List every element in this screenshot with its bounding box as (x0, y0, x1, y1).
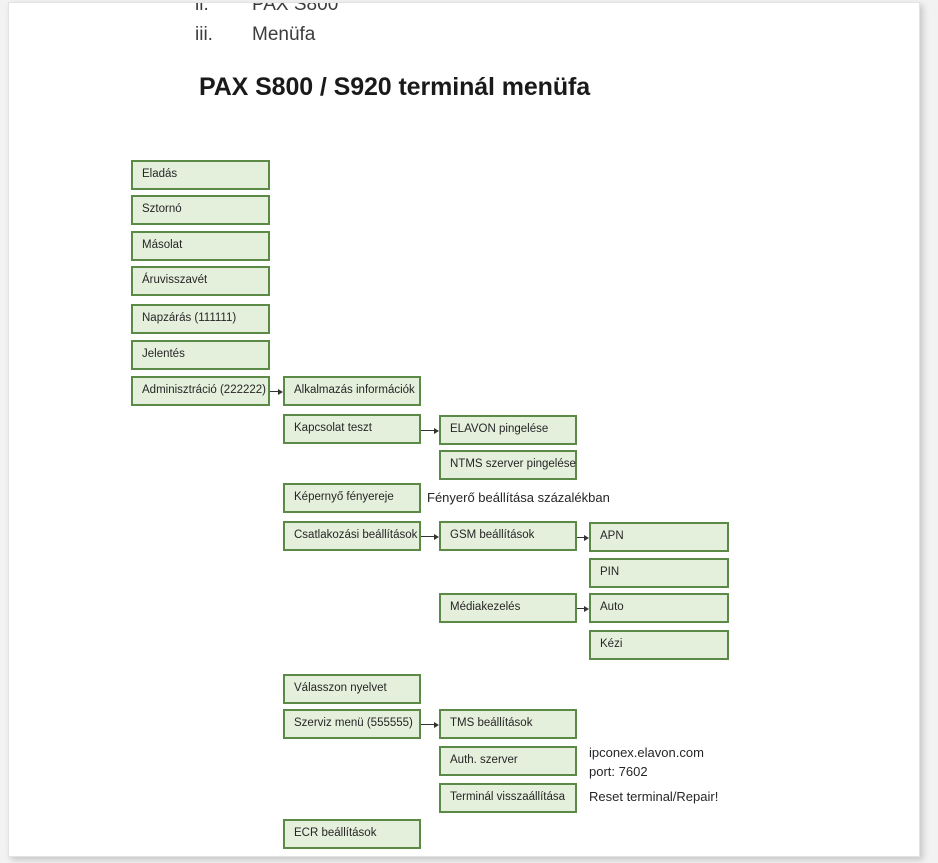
node-label: GSM beállítások (441, 530, 534, 542)
node-label: APN (591, 531, 624, 543)
node-label: Terminál visszaállítása (441, 792, 565, 804)
node-apn[interactable]: APN (589, 522, 729, 552)
node-label: Válasszon nyelvet (285, 683, 387, 695)
node-szerviz-menu[interactable]: Szerviz menü (555555) (283, 709, 421, 739)
node-elavon-pingelese[interactable]: ELAVON pingelése (439, 415, 577, 445)
annotation-fenyero: Fényerő beállítása százalékban (427, 490, 610, 505)
node-label: Kapcsolat teszt (285, 423, 372, 435)
connector-arrow-kapcsolat-to-elavon (421, 425, 439, 436)
node-kepernyo-fenyereje[interactable]: Képernyő fényereje (283, 483, 421, 513)
node-kapcsolat-teszt[interactable]: Kapcsolat teszt (283, 414, 421, 444)
document-page: ii. PAX S800 iii. Menüfa PAX S800 / S920… (8, 2, 920, 857)
node-masolat[interactable]: Másolat (131, 231, 270, 261)
node-label: TMS beállítások (441, 718, 532, 730)
node-label: Szerviz menü (555555) (285, 718, 413, 730)
node-gsm-beallitasok[interactable]: GSM beállítások (439, 521, 577, 551)
node-label: Másolat (133, 240, 182, 252)
node-tms-beallitasok[interactable]: TMS beállítások (439, 709, 577, 739)
node-kezi[interactable]: Kézi (589, 630, 729, 660)
node-label: Sztornó (133, 204, 182, 216)
outline-item-iii-numeral: iii. (195, 24, 213, 46)
node-label: Kézi (591, 639, 622, 651)
connector-arrow-szerviz-to-tms (421, 719, 439, 730)
connector-line (577, 537, 584, 538)
annotation-auth-port: port: 7602 (589, 764, 648, 779)
outline-item-ii-label: PAX S800 (252, 2, 338, 16)
node-aruvisszavet[interactable]: Áruvisszavét (131, 266, 270, 296)
node-jelentes[interactable]: Jelentés (131, 340, 270, 370)
node-auth-szerver[interactable]: Auth. szerver (439, 746, 577, 776)
screenshot-root: ii. PAX S800 iii. Menüfa PAX S800 / S920… (0, 0, 938, 863)
node-label: Napzárás (111111) (133, 313, 236, 325)
node-label: ECR beállítások (285, 828, 376, 840)
node-napzaras[interactable]: Napzárás (111111) (131, 304, 270, 334)
connector-arrow-gsm-to-apn (577, 532, 589, 543)
outline-item-ii-numeral: ii. (195, 2, 209, 16)
node-ntms-szerver-pingelese[interactable]: NTMS szerver pingelése (439, 450, 577, 480)
node-label: Adminisztráció (222222) (133, 385, 266, 397)
node-label: NTMS szerver pingelése (441, 459, 576, 471)
arrow-head-icon (434, 722, 439, 728)
node-label: Médiakezelés (441, 602, 520, 614)
connector-arrow-csatlakozasi-to-gsm (421, 531, 439, 542)
node-mediakezeles[interactable]: Médiakezelés (439, 593, 577, 623)
page-title: PAX S800 / S920 terminál menüfa (199, 73, 590, 102)
node-ecr-beallitasok[interactable]: ECR beállítások (283, 819, 421, 849)
connector-line (421, 430, 434, 431)
node-label: ELAVON pingelése (441, 424, 548, 436)
node-terminal-visszaallitasa[interactable]: Terminál visszaállítása (439, 783, 577, 813)
node-alkalmazas-informaciok[interactable]: Alkalmazás információk (283, 376, 421, 406)
connector-line (421, 724, 434, 725)
node-valasszon-nyelvet[interactable]: Válasszon nyelvet (283, 674, 421, 704)
annotation-reset-terminal: Reset terminal/Repair! (589, 789, 718, 804)
node-adminisztracio[interactable]: Adminisztráció (222222) (131, 376, 270, 406)
annotation-auth-host: ipconex.elavon.com (589, 745, 704, 760)
arrow-head-icon (278, 389, 283, 395)
node-sztorno[interactable]: Sztornó (131, 195, 270, 225)
outline-item-iii-label: Menüfa (252, 24, 315, 46)
node-csatlakozasi-beallitasok[interactable]: Csatlakozási beállítások (283, 521, 421, 551)
connector-line (421, 536, 434, 537)
node-label: Csatlakozási beállítások (285, 530, 417, 542)
node-label: Alkalmazás információk (285, 385, 415, 397)
node-label: Auto (591, 602, 624, 614)
connector-line (577, 608, 584, 609)
node-label: PIN (591, 567, 619, 579)
node-label: Képernyő fényereje (285, 492, 394, 504)
node-label: Auth. szerver (441, 755, 518, 767)
node-label: Jelentés (133, 349, 185, 361)
arrow-head-icon (584, 535, 589, 541)
arrow-head-icon (434, 428, 439, 434)
node-auto[interactable]: Auto (589, 593, 729, 623)
connector-arrow-mediakezeles-to-auto (577, 603, 589, 614)
node-eladas[interactable]: Eladás (131, 160, 270, 190)
node-pin[interactable]: PIN (589, 558, 729, 588)
node-label: Eladás (133, 169, 177, 181)
node-label: Áruvisszavét (133, 275, 207, 287)
connector-line (270, 391, 278, 392)
arrow-head-icon (584, 606, 589, 612)
arrow-head-icon (434, 534, 439, 540)
connector-arrow-adminisztracio-to-alkalmazas (270, 386, 283, 397)
